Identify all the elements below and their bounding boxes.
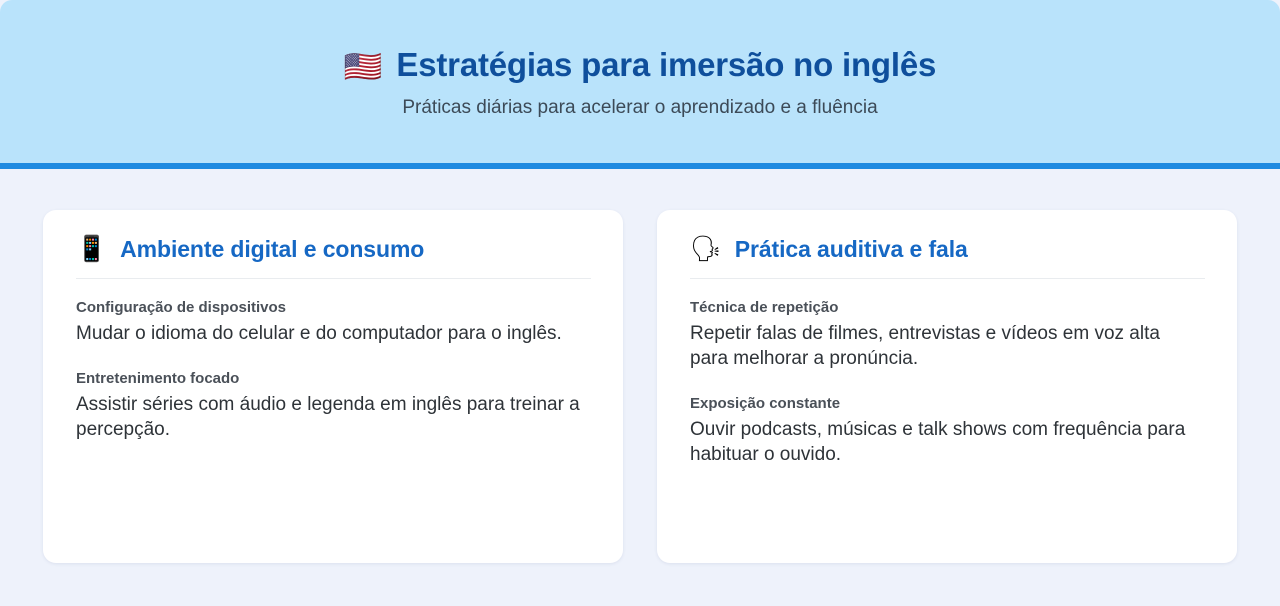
page-subtitle: Práticas diárias para acelerar o aprendi… <box>402 97 877 119</box>
entry-text: Mudar o idioma do celular e do computado… <box>76 321 586 346</box>
page-root: 🇺🇸 Estratégias para imersão no inglês Pr… <box>0 0 1280 606</box>
entry-label: Entretenimento focado <box>76 370 591 387</box>
cards-container: 📱 Ambiente digital e consumo Configuraçã… <box>43 210 1237 563</box>
entry-label: Exposição constante <box>690 395 1205 412</box>
page-header: 🇺🇸 Estratégias para imersão no inglês Pr… <box>0 0 1280 169</box>
entry-text: Ouvir podcasts, músicas e talk shows com… <box>690 417 1200 467</box>
card-header: 🗣 Prática auditiva e fala <box>690 236 1205 279</box>
entry-item: Entretenimento focado Assistir séries co… <box>76 370 591 442</box>
mobile-phone-icon: 📱 <box>76 237 107 262</box>
card-entries: Configuração de dispositivos Mudar o idi… <box>76 299 591 442</box>
entry-item: Técnica de repetição Repetir falas de fi… <box>690 299 1205 371</box>
entry-label: Configuração de dispositivos <box>76 299 591 316</box>
us-flag-icon: 🇺🇸 <box>344 51 383 82</box>
card-title: Prática auditiva e fala <box>735 236 968 263</box>
entry-label: Técnica de repetição <box>690 299 1205 316</box>
card-entries: Técnica de repetição Repetir falas de fi… <box>690 299 1205 467</box>
speaking-head-icon: 🗣 <box>690 237 722 262</box>
card-ambiente-digital: 📱 Ambiente digital e consumo Configuraçã… <box>43 210 623 563</box>
page-title: Estratégias para imersão no inglês <box>396 46 936 84</box>
entry-text: Assistir séries com áudio e legenda em i… <box>76 392 586 442</box>
card-header: 📱 Ambiente digital e consumo <box>76 236 591 279</box>
title-row: 🇺🇸 Estratégias para imersão no inglês <box>344 46 936 84</box>
entry-item: Exposição constante Ouvir podcasts, músi… <box>690 395 1205 467</box>
card-title: Ambiente digital e consumo <box>120 236 424 263</box>
card-pratica-auditiva: 🗣 Prática auditiva e fala Técnica de rep… <box>657 210 1237 563</box>
entry-item: Configuração de dispositivos Mudar o idi… <box>76 299 591 346</box>
entry-text: Repetir falas de filmes, entrevistas e v… <box>690 321 1200 371</box>
